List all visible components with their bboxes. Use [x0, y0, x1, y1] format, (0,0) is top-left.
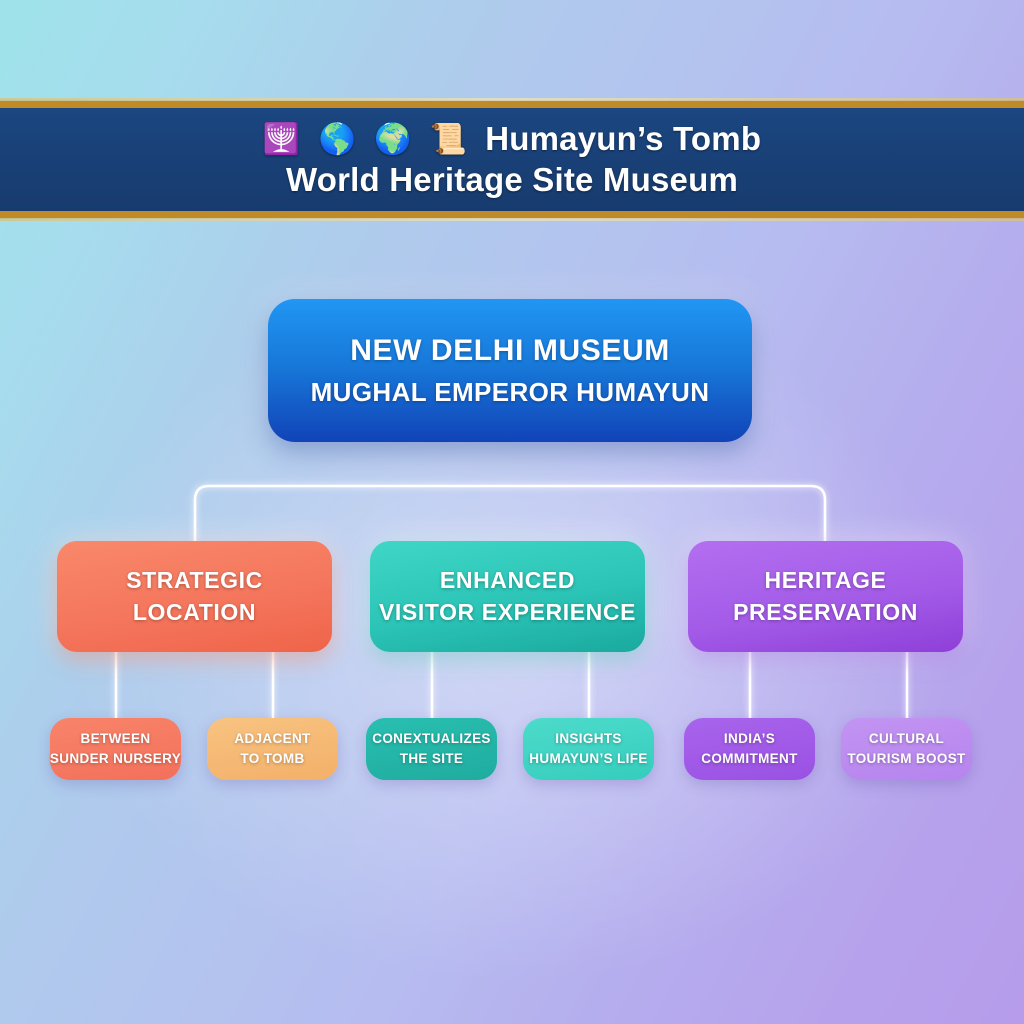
leaf-label-line-2: HUMAYUN’S LIFE	[529, 749, 647, 769]
leaf-label-line-1: INSIGHTS	[555, 729, 622, 749]
banner-title-line-1: 🕎 🌎 🌍 📜 Humayun’s Tomb	[263, 121, 761, 158]
leaf-label-line-1: BETWEEN	[81, 729, 151, 749]
category-label-line-1: STRATEGIC	[126, 565, 263, 596]
category-node-enhanced-visitor-experience[interactable]: ENHANCED VISITOR EXPERIENCE	[370, 541, 645, 652]
banner-title-line-2: World Heritage Site Museum	[286, 162, 738, 199]
leaf-node-conextualizes-the-site[interactable]: CONEXTUALIZES THE SITE	[366, 718, 497, 780]
leaf-label-line-2: COMMITMENT	[701, 749, 797, 769]
leaf-node-insights-humayuns-life[interactable]: INSIGHTS HUMAYUN’S LIFE	[523, 718, 654, 780]
category-label-line-2: VISITOR EXPERIENCE	[379, 597, 636, 628]
root-node-subtitle: MUGHAL EMPEROR HUMAYUN	[311, 377, 710, 408]
leaf-node-indias-commitment[interactable]: INDIA’S COMMITMENT	[684, 718, 815, 780]
leaf-node-between-sunder-nursery[interactable]: BETWEEN SUNDER NURSERY	[50, 718, 181, 780]
connector-root-bus	[195, 486, 825, 541]
root-node-new-delhi-museum[interactable]: NEW DELHI MUSEUM MUGHAL EMPEROR HUMAYUN	[268, 299, 752, 442]
root-node-title: NEW DELHI MUSEUM	[350, 334, 670, 368]
leaf-label-line-1: CULTURAL	[869, 729, 944, 749]
leaf-label-line-2: TO TOMB	[240, 749, 304, 769]
banner-title-primary: Humayun’s Tomb	[485, 121, 761, 158]
leaf-label-line-2: TOURISM BOOST	[847, 749, 965, 769]
category-label-line-1: HERITAGE	[765, 565, 887, 596]
category-node-strategic-location[interactable]: STRATEGIC LOCATION	[57, 541, 332, 652]
banner-emoji-group: 🕎 🌎 🌍 📜	[263, 125, 472, 155]
leaf-label-line-2: THE SITE	[400, 749, 464, 769]
leaf-label-line-2: SUNDER NURSERY	[50, 749, 181, 769]
category-label-line-2: PRESERVATION	[733, 597, 918, 628]
category-label-line-1: ENHANCED	[440, 565, 575, 596]
leaf-node-cultural-tourism-boost[interactable]: CULTURAL TOURISM BOOST	[841, 718, 972, 780]
leaf-label-line-1: INDIA’S	[724, 729, 775, 749]
leaf-label-line-1: ADJACENT	[234, 729, 310, 749]
category-label-line-2: LOCATION	[133, 597, 256, 628]
leaf-node-adjacent-to-tomb[interactable]: ADJACENT TO TOMB	[207, 718, 338, 780]
header-banner: 🕎 🌎 🌍 📜 Humayun’s Tomb World Heritage Si…	[0, 101, 1024, 218]
category-node-heritage-preservation[interactable]: HERITAGE PRESERVATION	[688, 541, 963, 652]
leaf-label-line-1: CONEXTUALIZES	[372, 729, 491, 749]
